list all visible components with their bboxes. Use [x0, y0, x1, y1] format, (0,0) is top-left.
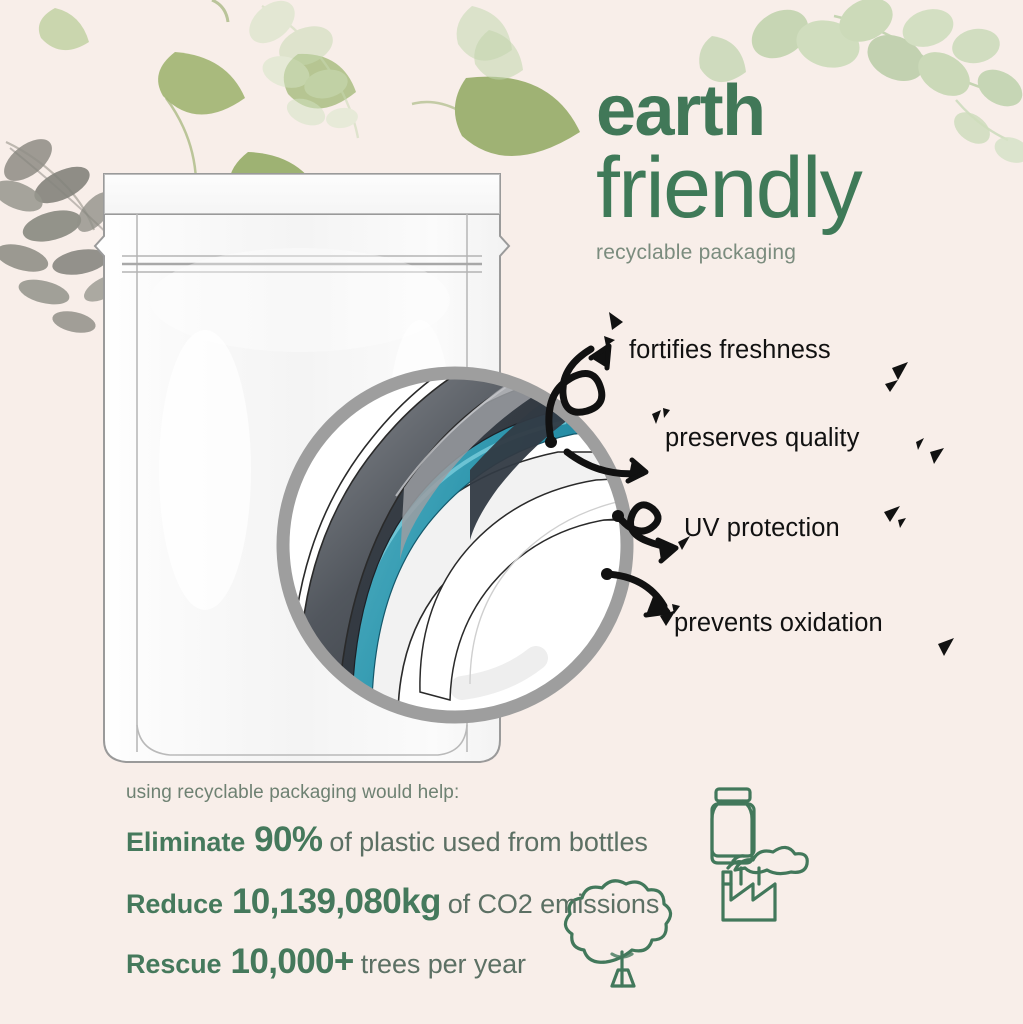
- feature-label-fortifies-freshness: fortifies freshness: [629, 336, 831, 365]
- headline-block: earth friendly recyclable packaging: [596, 78, 1016, 265]
- stat-value: 90%: [254, 820, 322, 860]
- stat-verb: Reduce: [126, 889, 223, 920]
- infographic-canvas: earth friendly recyclable packaging fort…: [0, 0, 1023, 1024]
- feature-label-prevents-oxidation: prevents oxidation: [674, 609, 883, 638]
- stat-tail: of plastic used from bottles: [329, 827, 647, 858]
- stat-verb: Rescue: [126, 949, 221, 980]
- stat-verb: Eliminate: [126, 827, 245, 858]
- stat-tail: trees per year: [361, 949, 526, 980]
- stat-value: 10,139,080kg: [232, 882, 441, 922]
- headline-subtitle: recyclable packaging: [596, 241, 1016, 265]
- feature-label-uv-protection: UV protection: [684, 514, 840, 543]
- headline-line-1: earth: [596, 78, 1016, 144]
- stat-row-rescue: Rescue 10,000+ trees per year: [126, 942, 746, 982]
- feature-label-preserves-quality: preserves quality: [665, 424, 859, 453]
- headline-line-2: friendly: [596, 146, 1016, 230]
- stats-block: using recyclable packaging would help: E…: [126, 782, 746, 1000]
- stat-row-reduce: Reduce 10,139,080kg of CO2 emissions: [126, 882, 746, 922]
- stats-intro: using recyclable packaging would help:: [126, 782, 746, 804]
- stat-row-eliminate: Eliminate 90% of plastic used from bottl…: [126, 820, 746, 860]
- stat-value: 10,000+: [230, 942, 353, 982]
- stat-tail: of CO2 emissions: [448, 889, 659, 920]
